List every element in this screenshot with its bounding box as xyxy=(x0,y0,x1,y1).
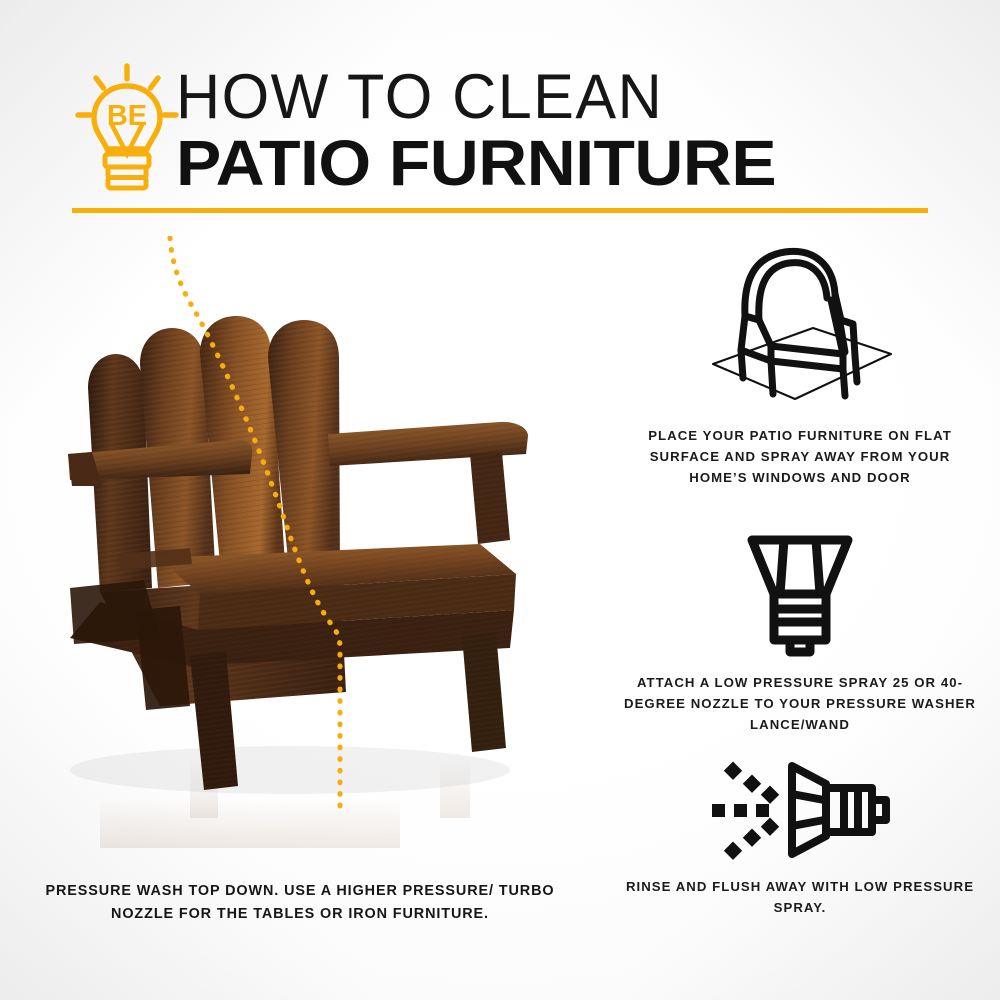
step-3: RINSE AND FLUSH AWAY WITH LOW PRESSURE S… xyxy=(600,758,1000,918)
step-1-text: PLACE YOUR PATIO FURNITURE ON FLAT SURFA… xyxy=(600,425,1000,488)
patio-chair-on-flat-surface-icon xyxy=(600,236,1000,411)
title-line-2: PATIO FURNITURE xyxy=(176,130,1000,196)
photo-caption: PRESSURE WASH TOP DOWN. USE A HIGHER PRE… xyxy=(40,880,560,926)
steps-column: PLACE YOUR PATIO FURNITURE ON FLAT SURFA… xyxy=(600,236,1000,956)
title-line-1: HOW TO CLEAN xyxy=(176,66,942,128)
step-2-text: ATTACH A LOW PRESSURE SPRAY 25 OR 40-DEG… xyxy=(600,672,1000,735)
title-divider-rule xyxy=(72,208,928,213)
nozzle-spraying-water-icon xyxy=(600,758,1000,862)
logo-text: BE xyxy=(107,100,147,132)
lightbulb-be-icon: BE xyxy=(74,62,180,194)
step-3-text: RINSE AND FLUSH AWAY WITH LOW PRESSURE S… xyxy=(600,876,1000,918)
step-1: PLACE YOUR PATIO FURNITURE ON FLAT SURFA… xyxy=(600,236,1000,488)
header: BE HOW TO CLEAN PATIO FURNITURE xyxy=(0,0,1000,230)
step-2: ATTACH A LOW PRESSURE SPRAY 25 OR 40-DEG… xyxy=(600,532,1000,735)
spray-nozzle-tip-icon xyxy=(600,532,1000,658)
page-title: HOW TO CLEAN PATIO FURNITURE xyxy=(176,66,966,196)
adirondack-chair-photo xyxy=(40,258,560,858)
